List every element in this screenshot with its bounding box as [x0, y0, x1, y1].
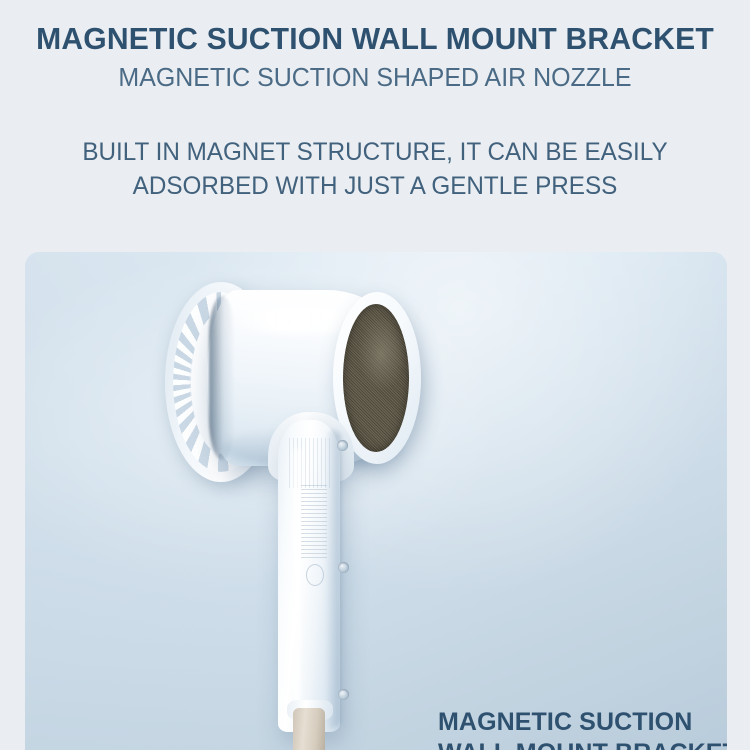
hair-dryer-product-image: [25, 252, 727, 750]
handle-edge-shading: [325, 430, 341, 728]
handle-screw-top: [337, 440, 348, 451]
overlay-title-line-1: MAGNETIC SUCTION: [438, 707, 727, 738]
overlay-title-line-2: WALL MOUNT BRACKET: [438, 738, 727, 750]
overlay-title: MAGNETIC SUCTION WALL MOUNT BRACKET: [438, 707, 727, 750]
handle-certification-mark: [306, 564, 324, 586]
photo-overlay-caption: MAGNETIC SUCTION WALL MOUNT BRACKET EASY…: [438, 707, 727, 750]
feature-claim-line-1: BUILT IN MAGNET STRUCTURE, IT CAN BE EAS…: [11, 136, 739, 170]
feature-claim-text: BUILT IN MAGNET STRUCTURE, IT CAN BE EAS…: [11, 136, 739, 204]
page-title: MAGNETIC SUCTION WALL MOUNT BRACKET: [11, 0, 739, 55]
air-nozzle-mesh-grille: [343, 304, 409, 452]
feature-claim-line-2: ADSORBED WITH JUST A GENTLE PRESS: [11, 170, 739, 204]
handle-screw-middle: [338, 562, 349, 573]
product-photo-panel: MAGNETIC SUCTION WALL MOUNT BRACKET EASY…: [25, 252, 727, 750]
header-text-block: MAGNETIC SUCTION WALL MOUNT BRACKET MAGN…: [0, 0, 750, 92]
page-subtitle: MAGNETIC SUCTION SHAPED AIR NOZZLE: [15, 55, 735, 92]
power-cord: [293, 708, 325, 750]
handle-spec-label: [301, 484, 327, 558]
handle-screw-bottom: [338, 689, 349, 700]
